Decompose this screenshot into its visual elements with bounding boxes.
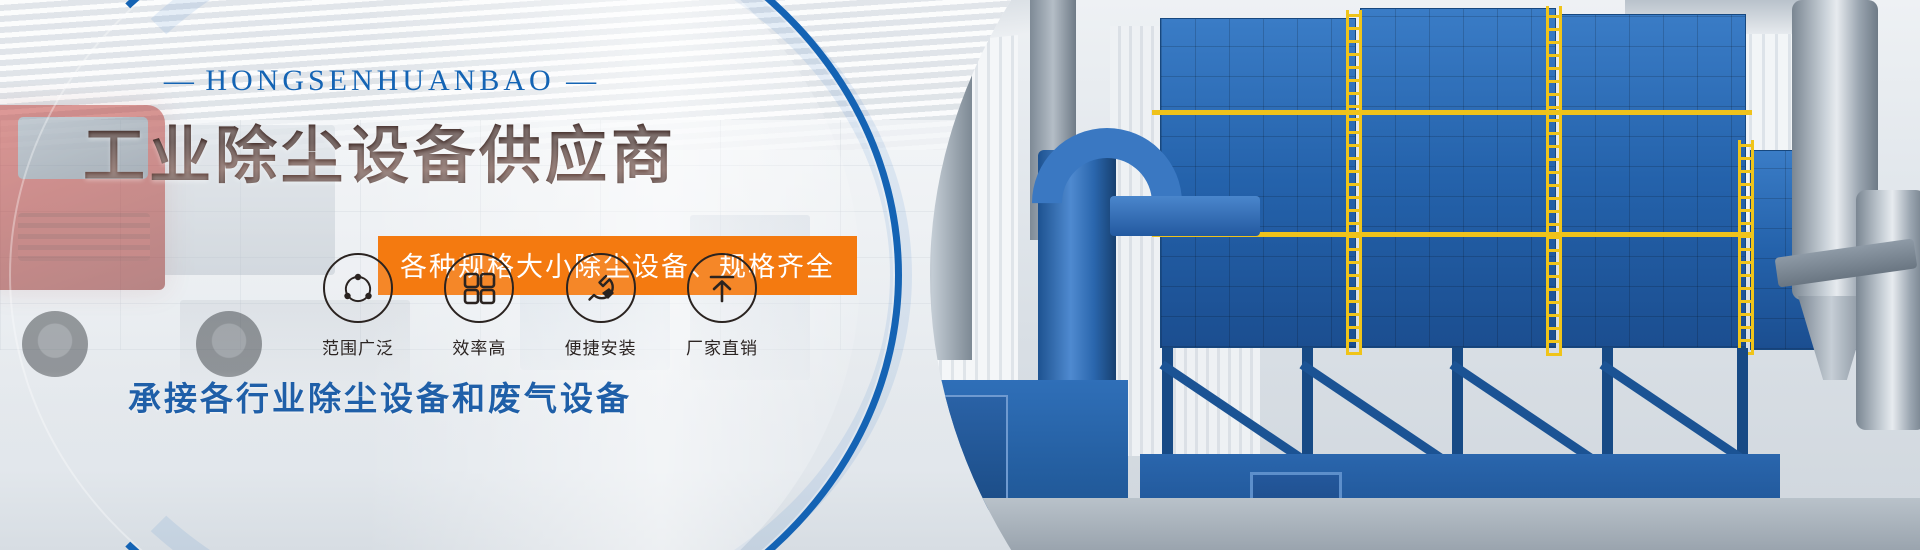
handrail-upper [1152, 110, 1752, 115]
wrench-circle-icon [566, 253, 636, 323]
eyebrow-dash-left: — [164, 64, 194, 97]
feature-item-factory-direct[interactable]: 厂家直销 [684, 253, 760, 359]
feature-label: 便捷安装 [563, 334, 639, 359]
yellow-ladder-1 [1346, 10, 1362, 355]
page-title: 工业除尘设备供应商 [0, 105, 900, 195]
feature-label: 效率高 [441, 334, 517, 359]
eyebrow-text: HONGSENHUANBAO [205, 64, 554, 97]
blue-horizontal-pipe [1110, 196, 1260, 236]
feature-label: 厂家直销 [684, 334, 760, 359]
grid-squares-icon [444, 253, 514, 323]
steel-tank-2 [1856, 190, 1920, 430]
baghouse-module-1 [1160, 18, 1356, 348]
yellow-ladder-2 [1546, 6, 1562, 356]
baghouse-module-2 [1360, 8, 1556, 348]
feature-label: 范围广泛 [320, 334, 396, 359]
yellow-ladder-3 [1738, 140, 1754, 355]
tagline: 承接各行业除尘设备和废气设备 [0, 372, 900, 420]
hero-banner: — HONGSENHUANBAO — 工业除尘设备供应商 各种规格大小除尘设备、… [0, 0, 1920, 550]
brand-eyebrow: — HONGSENHUANBAO — [0, 64, 900, 98]
eyebrow-dash-right: — [566, 64, 596, 97]
share-nodes-icon [323, 253, 393, 323]
feature-item-installation[interactable]: 便捷安装 [563, 253, 639, 359]
feature-item-coverage[interactable]: 范围广泛 [320, 253, 396, 359]
banner-content: — HONGSENHUANBAO — 工业除尘设备供应商 各种规格大小除尘设备、… [0, 0, 900, 550]
feature-item-efficiency[interactable]: 效率高 [441, 253, 517, 359]
support-legs [1152, 348, 1752, 458]
up-arrow-bar-icon [687, 253, 757, 323]
baghouse-module-3 [1560, 14, 1746, 348]
feature-list: 范围广泛 效率高 [320, 253, 760, 359]
